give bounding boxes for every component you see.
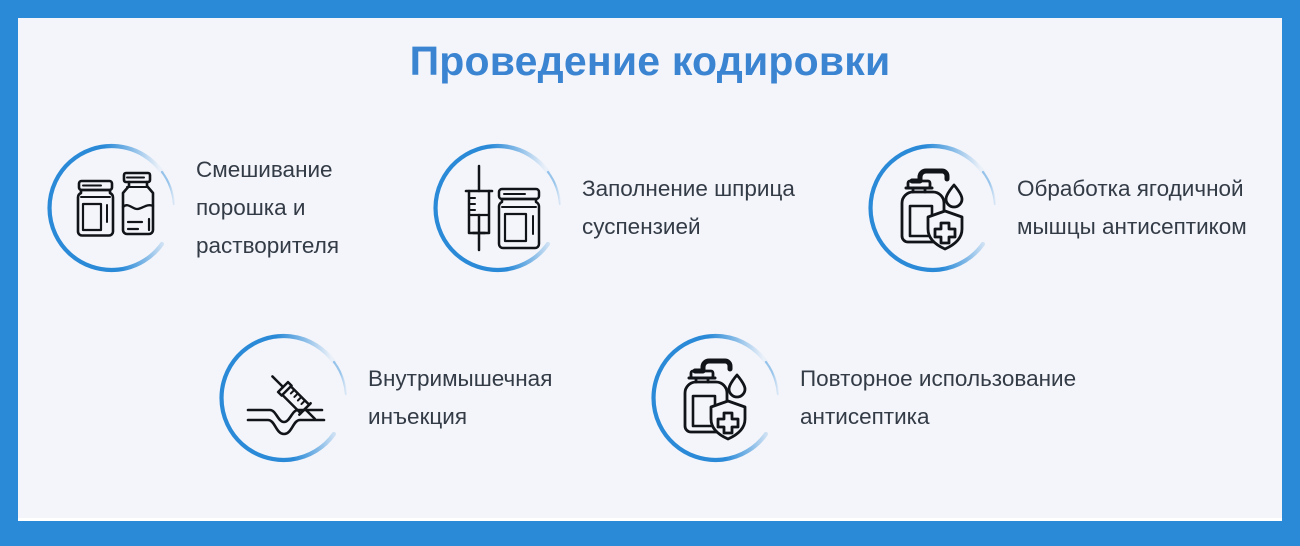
step-label: Обработка ягодичной мышцы антисептиком [1017,170,1247,246]
step-label: Заполнение шприца суспензией [582,170,795,246]
page-title: Проведение кодировки [18,38,1282,85]
step-item-filling-syringe-suspension: Заполнение шприца суспензией [436,142,795,274]
step-item-intramuscular-injection: Внутримышечная инъекция [222,332,552,464]
syringe-injection-skin-icon [222,332,354,464]
syringe-and-vial-icon [436,142,568,274]
step-label: Повторное использование антисептика [800,360,1076,436]
infographic-root: Проведение кодировки [0,0,1300,546]
step-item-mixing-powder-solvent: Смешивание порошка и растворителя [50,142,339,274]
step-badge [50,142,182,274]
frame-bottom-gap [18,518,1282,521]
antiseptic-dispenser-shield-icon [871,142,1003,274]
step-item-repeat-antiseptic-use: Повторное использование антисептика [654,332,1076,464]
step-badge [222,332,354,464]
step-badge [654,332,786,464]
step-label: Смешивание порошка и растворителя [196,151,339,265]
antiseptic-dispenser-shield-icon [654,332,786,464]
step-badge [871,142,1003,274]
step-badge [436,142,568,274]
two-vials-icon [50,142,182,274]
step-item-antiseptic-gluteal-muscle: Обработка ягодичной мышцы антисептиком [871,142,1247,274]
step-label: Внутримышечная инъекция [368,360,552,436]
